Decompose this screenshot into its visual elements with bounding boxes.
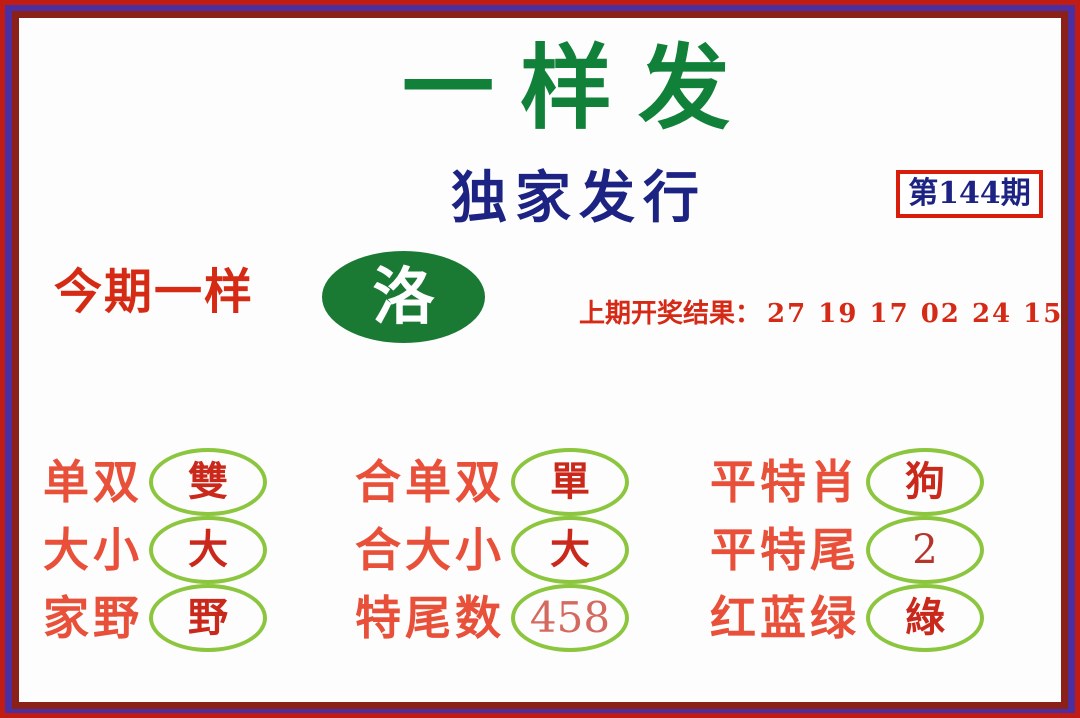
- prediction-oval: 458: [511, 584, 629, 652]
- prediction-cell-teweishu: 特尾数 458: [337, 584, 692, 652]
- prediction-label: 红蓝绿: [710, 595, 860, 641]
- prediction-oval: 綠: [866, 584, 984, 652]
- prediction-value: 野: [188, 598, 228, 638]
- prediction-value: 狗: [905, 462, 945, 502]
- prediction-value: 大: [188, 530, 228, 570]
- tagline: 今期一样: [54, 268, 254, 316]
- prediction-label: 平特肖: [710, 459, 860, 505]
- prediction-oval: 單: [511, 448, 629, 516]
- prediction-cell-hedaxiao: 合大小 大: [337, 516, 692, 584]
- last-draw-result-label: 上期开奖结果：: [579, 299, 761, 329]
- predictions-grid: 单双 雙 合单双 單 平特肖 狗: [19, 448, 1061, 652]
- prediction-value: 雙: [188, 462, 228, 502]
- prediction-oval: 野: [149, 584, 267, 652]
- keyword-oval-badge: 洛: [322, 251, 485, 343]
- prediction-value: 單: [550, 462, 590, 502]
- prediction-value: 大: [550, 530, 590, 570]
- prediction-oval: 大: [511, 516, 629, 584]
- prediction-cell-pingtewei: 平特尾 2: [692, 516, 1061, 584]
- prediction-cell-jiaye: 家野 野: [19, 584, 337, 652]
- poster-content: 一样发 独家发行 第144期 今期一样 洛 上期开奖结果：27 19 17 02…: [19, 18, 1061, 702]
- period-badge-label: 第144期: [908, 179, 1031, 209]
- prediction-label: 平特尾: [710, 527, 860, 573]
- prediction-value: 綠: [905, 598, 945, 638]
- prediction-label: 合单双: [355, 459, 505, 505]
- prediction-row: 家野 野 特尾数 458 红蓝绿 綠: [19, 584, 1061, 652]
- prediction-cell-honglanlv: 红蓝绿 綠: [692, 584, 1061, 652]
- prediction-oval: 2: [866, 516, 984, 584]
- prediction-value: 458: [530, 597, 610, 639]
- prediction-row: 大小 大 合大小 大 平特尾 2: [19, 516, 1061, 584]
- subtitle: 独家发行: [451, 170, 707, 226]
- keyword-character: 洛: [372, 266, 434, 328]
- period-badge: 第144期: [896, 170, 1043, 218]
- prediction-row: 单双 雙 合单双 單 平特肖 狗: [19, 448, 1061, 516]
- prediction-cell-hedanshuang: 合单双 單: [337, 448, 692, 516]
- lottery-poster: 一样发 独家发行 第144期 今期一样 洛 上期开奖结果：27 19 17 02…: [0, 0, 1080, 718]
- prediction-cell-pingtexiao: 平特肖 狗: [692, 448, 1061, 516]
- prediction-label: 特尾数: [355, 595, 505, 641]
- last-draw-result: 上期开奖结果：27 19 17 02 24 15+10: [579, 301, 1080, 327]
- prediction-oval: 狗: [866, 448, 984, 516]
- prediction-label: 大小: [43, 527, 143, 573]
- prediction-label: 单双: [43, 459, 143, 505]
- last-draw-result-numbers: 27 19 17 02 24 15+10: [767, 299, 1080, 329]
- prediction-label: 家野: [43, 595, 143, 641]
- prediction-label: 合大小: [355, 527, 505, 573]
- prediction-cell-daxiao: 大小 大: [19, 516, 337, 584]
- prediction-oval: 大: [149, 516, 267, 584]
- prediction-value: 2: [912, 530, 937, 570]
- prediction-oval: 雙: [149, 448, 267, 516]
- prediction-cell-danshuang: 单双 雙: [19, 448, 337, 516]
- page-title: 一样发: [279, 42, 879, 134]
